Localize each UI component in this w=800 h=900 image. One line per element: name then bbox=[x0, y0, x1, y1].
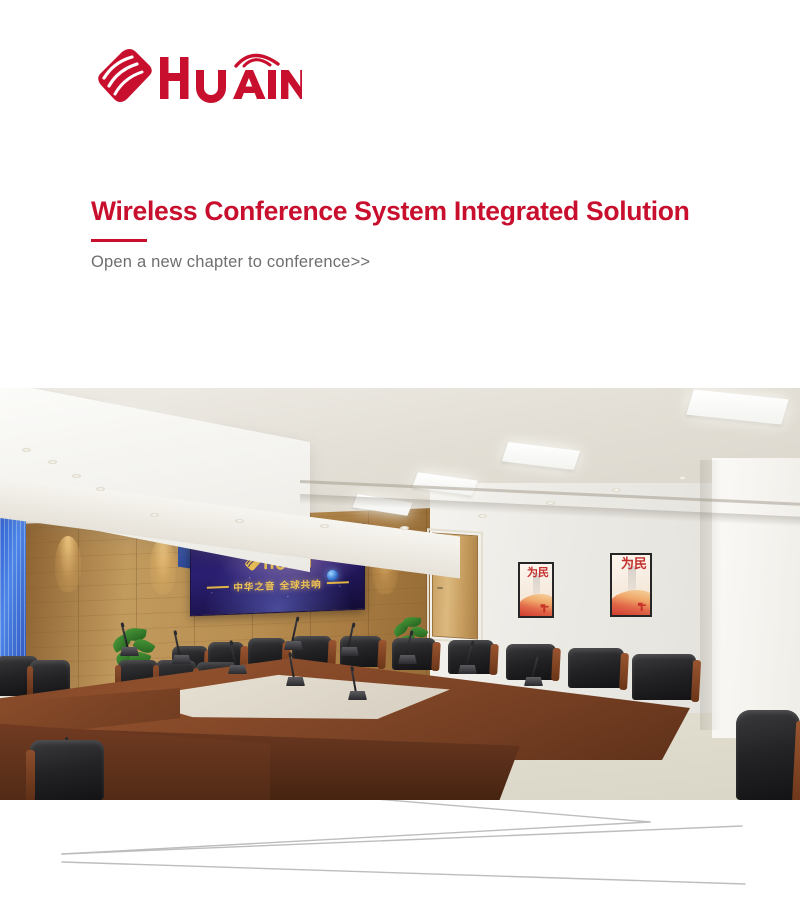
door-knob-icon bbox=[437, 587, 443, 589]
recessed-downlight-icon bbox=[546, 501, 555, 505]
chevron-line bbox=[62, 822, 650, 854]
leather-chair bbox=[736, 710, 800, 800]
footer-decoration bbox=[0, 800, 800, 900]
recessed-downlight-icon bbox=[150, 513, 159, 517]
chevron-line bbox=[62, 862, 745, 884]
recessed-downlight-icon bbox=[478, 514, 487, 518]
recessed-downlight-icon bbox=[235, 519, 244, 523]
recessed-downlight-icon bbox=[72, 474, 81, 478]
wall-wash-light bbox=[55, 536, 81, 592]
recessed-downlight-icon bbox=[96, 487, 105, 491]
framed-poster: 为民 bbox=[518, 562, 554, 618]
recessed-downlight-icon bbox=[22, 448, 31, 452]
wall-wash-light bbox=[150, 538, 176, 594]
framed-poster: 为民 bbox=[610, 553, 652, 617]
page-subtitle: Open a new chapter to conference>> bbox=[91, 253, 370, 272]
title-underline bbox=[91, 239, 147, 242]
poster-wave bbox=[518, 594, 554, 616]
poster-title: 为民 bbox=[621, 558, 647, 571]
recessed-downlight-icon bbox=[400, 526, 409, 530]
leather-chair bbox=[568, 648, 624, 688]
huain-logo[interactable] bbox=[92, 44, 302, 110]
signal-arc-icon bbox=[236, 55, 278, 66]
recessed-downlight-icon bbox=[48, 460, 57, 464]
huain-logo-mark-icon bbox=[98, 49, 152, 102]
recessed-downlight-icon bbox=[320, 524, 329, 528]
recessed-downlight-icon bbox=[612, 488, 621, 492]
huain-wordmark bbox=[160, 57, 302, 103]
leather-chair bbox=[392, 638, 436, 670]
poster-title: 为民 bbox=[527, 567, 549, 578]
page-title: Wireless Conference System Integrated So… bbox=[91, 196, 690, 227]
leather-chair bbox=[30, 740, 104, 800]
page-header: Wireless Conference System Integrated So… bbox=[0, 0, 800, 388]
leather-chair bbox=[632, 654, 696, 700]
chevron-line bbox=[62, 826, 742, 854]
conference-room-photo: 中华之音 全球共响 为民 bbox=[0, 388, 800, 800]
poster-wave bbox=[610, 590, 652, 615]
product-banner-page: Wireless Conference System Integrated So… bbox=[0, 0, 800, 900]
chevron-line bbox=[340, 800, 650, 822]
recessed-downlight-icon bbox=[678, 476, 687, 480]
